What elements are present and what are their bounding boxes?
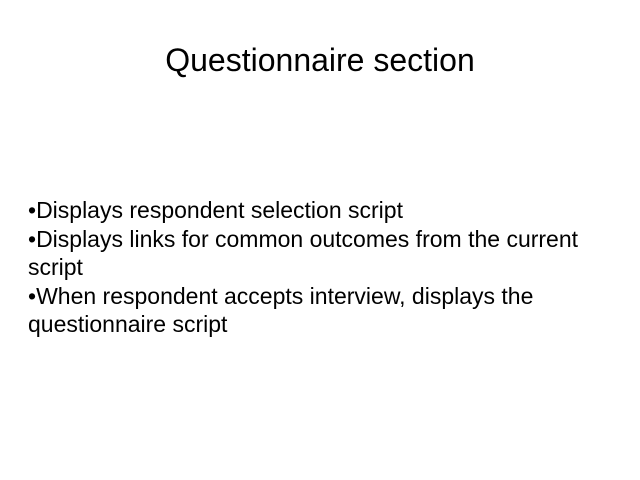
list-item: •Displays respondent selection script [28, 196, 612, 225]
list-item-label: When respondent accepts interview, displ… [28, 283, 533, 338]
list-item: •Displays links for common outcomes from… [28, 225, 612, 282]
list-item: •When respondent accepts interview, disp… [28, 282, 612, 339]
bullet-icon: • [28, 197, 36, 223]
bullet-icon: • [28, 283, 36, 309]
bullet-icon: • [28, 226, 36, 252]
slide-canvas: Questionnaire section •Displays responde… [0, 0, 640, 480]
list-item-label: Displays respondent selection script [36, 197, 403, 223]
page-title: Questionnaire section [0, 40, 640, 80]
bullet-list: •Displays respondent selection script •D… [28, 196, 612, 339]
list-item-label: Displays links for common outcomes from … [28, 226, 578, 281]
